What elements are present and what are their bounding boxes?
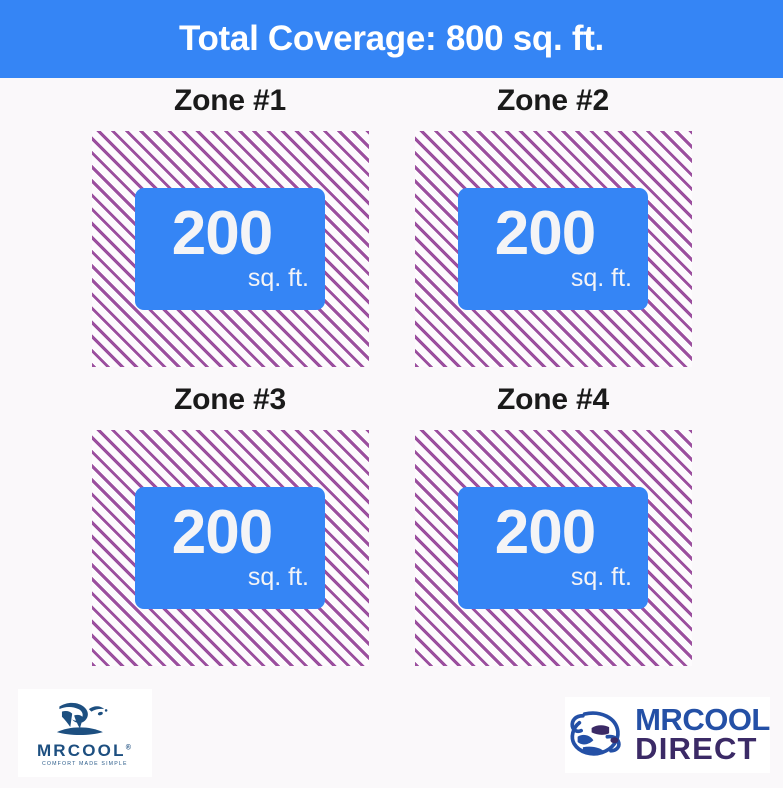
zone-value-4: 200 [495,504,595,563]
zone-unit-2: sq. ft. [571,266,632,291]
zone-value-2: 200 [495,205,595,264]
page-title: Total Coverage: 800 sq. ft. [179,19,604,59]
zone-label-1: Zone #1 [174,86,286,116]
zone-value-3: 200 [172,504,272,563]
zone-row-bottom: Zone #3 200 sq. ft. Zone #4 200 sq. ft. [0,385,783,666]
zone-area-hatch-3: 200 sq. ft. [92,430,369,666]
zone-value-box-2: 200 sq. ft. [458,188,648,310]
mrcool-wordmark-text: MRCOOL [37,741,126,760]
zone-area-hatch-1: 200 sq. ft. [92,131,369,367]
zone-value-1: 200 [172,205,272,264]
bear-sunglasses-icon [565,707,627,763]
zone-unit-3: sq. ft. [248,565,309,590]
zone-value-box-1: 200 sq. ft. [135,188,325,310]
zone-card-1[interactable]: Zone #1 200 sq. ft. [92,86,369,367]
zones-grid: Zone #1 200 sq. ft. Zone #2 200 sq. ft. … [0,86,783,666]
zone-label-3: Zone #3 [174,385,286,415]
zone-value-box-3: 200 sq. ft. [135,487,325,609]
zone-unit-1: sq. ft. [248,266,309,291]
zone-card-2[interactable]: Zone #2 200 sq. ft. [415,86,692,367]
zone-label-2: Zone #2 [497,86,609,116]
zone-card-3[interactable]: Zone #3 200 sq. ft. [92,385,369,666]
zone-area-hatch-2: 200 sq. ft. [415,131,692,367]
zone-row-top: Zone #1 200 sq. ft. Zone #2 200 sq. ft. [0,86,783,367]
mrcool-direct-wordmark: MRCOOL DIRECT [635,706,770,763]
mrcool-wordmark: MRCOOL® [37,742,133,759]
mrcool-direct-logo[interactable]: MRCOOL DIRECT [565,697,770,773]
zone-unit-4: sq. ft. [571,565,632,590]
mrcool-tagline: COMFORT MADE SIMPLE [42,762,128,767]
mrcool-logo[interactable]: MRCOOL® COMFORT MADE SIMPLE [18,689,152,777]
zone-card-4[interactable]: Zone #4 200 sq. ft. [415,385,692,666]
polar-bear-icon [53,700,117,740]
mrcool-direct-line2: DIRECT [635,735,770,764]
header-banner: Total Coverage: 800 sq. ft. [0,0,783,78]
registered-mark: ® [126,744,133,751]
zone-area-hatch-4: 200 sq. ft. [415,430,692,666]
zone-value-box-4: 200 sq. ft. [458,487,648,609]
zone-label-4: Zone #4 [497,385,609,415]
